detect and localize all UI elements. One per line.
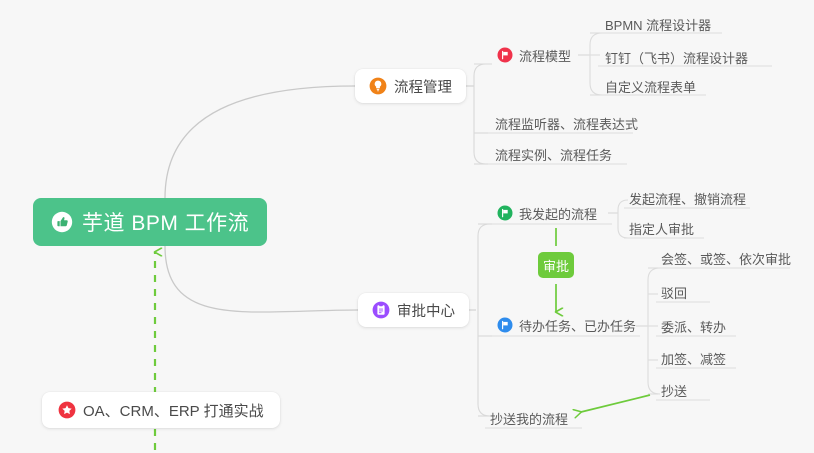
node-add-remove-sign[interactable]: 加签、减签	[656, 345, 732, 371]
flag-icon	[497, 205, 513, 221]
branch-label-process-management: 流程管理	[394, 76, 452, 97]
annotation-approval-label: 审批	[543, 256, 569, 275]
node-carbon-copy[interactable]: 抄送	[656, 377, 693, 403]
label-process-model: 流程模型	[519, 46, 571, 65]
label-todo-done-tasks: 待办任务、已办任务	[519, 316, 636, 335]
label-reject: 驳回	[661, 283, 687, 302]
edge-ac-bracket	[478, 224, 490, 416]
label-cc-to-me-process: 抄送我的流程	[490, 409, 568, 428]
edge-root-to-approval-center	[165, 246, 358, 312]
node-delegate-transfer[interactable]: 委派、转办	[656, 313, 732, 339]
label-assignee-approval: 指定人审批	[629, 219, 694, 238]
mindmap-canvas: 芋道 BPM 工作流 OA、CRM、ERP 打通实战 流程管理	[0, 0, 814, 453]
node-custom-process-form[interactable]: 自定义流程表单	[600, 73, 702, 99]
node-multi-sign-approval[interactable]: 会签、或签、依次审批	[656, 245, 797, 271]
node-start-cancel-process[interactable]: 发起流程、撤销流程	[624, 185, 752, 211]
label-delegate-transfer: 委派、转办	[661, 317, 726, 336]
label-custom-process-form: 自定义流程表单	[605, 77, 696, 96]
node-reject[interactable]: 驳回	[656, 279, 693, 305]
node-process-model[interactable]: 流程模型	[492, 42, 577, 68]
label-process-instance-task: 流程实例、流程任务	[495, 145, 612, 164]
label-multi-sign-approval: 会签、或签、依次审批	[661, 249, 791, 268]
flag-icon	[497, 317, 513, 333]
node-todo-done-tasks[interactable]: 待办任务、已办任务	[492, 312, 642, 338]
node-process-listener-expression[interactable]: 流程监听器、流程表达式	[490, 110, 644, 136]
clipboard-icon	[372, 301, 390, 319]
root-node-label: 芋道 BPM 工作流	[82, 207, 249, 237]
edge-pm-bracket	[474, 64, 486, 164]
label-carbon-copy: 抄送	[661, 381, 687, 400]
node-assignee-approval[interactable]: 指定人审批	[624, 215, 700, 241]
label-my-initiated-process: 我发起的流程	[519, 204, 597, 223]
node-my-initiated-process[interactable]: 我发起的流程	[492, 200, 603, 226]
node-cc-to-me-process[interactable]: 抄送我的流程	[485, 405, 574, 431]
branch-node-approval-center[interactable]: 审批中心	[358, 293, 469, 327]
label-dingtalk-feishu-designer: 钉钉（飞书）流程设计器	[605, 48, 748, 67]
bottom-note-node[interactable]: OA、CRM、ERP 打通实战	[42, 392, 280, 428]
thumbs-up-icon	[51, 211, 73, 233]
node-dingtalk-feishu-designer[interactable]: 钉钉（飞书）流程设计器	[600, 44, 754, 70]
node-bpmn-designer[interactable]: BPMN 流程设计器	[600, 11, 717, 37]
star-icon	[58, 401, 76, 419]
arrow-carbon-copy-to-cc-process	[581, 395, 650, 412]
flag-icon	[497, 47, 513, 63]
label-start-cancel-process: 发起流程、撤销流程	[629, 189, 746, 208]
label-add-remove-sign: 加签、减签	[661, 349, 726, 368]
branch-node-process-management[interactable]: 流程管理	[355, 69, 466, 103]
bottom-note-label: OA、CRM、ERP 打通实战	[83, 400, 264, 421]
root-node[interactable]: 芋道 BPM 工作流	[33, 198, 267, 246]
annotation-approval-tag: 审批	[538, 252, 574, 278]
node-process-instance-task[interactable]: 流程实例、流程任务	[490, 141, 618, 167]
label-bpmn-designer: BPMN 流程设计器	[605, 15, 711, 34]
label-process-listener-expression: 流程监听器、流程表达式	[495, 114, 638, 133]
branch-label-approval-center: 审批中心	[397, 300, 455, 321]
lightbulb-icon	[369, 77, 387, 95]
edge-root-to-process-management	[165, 86, 355, 198]
